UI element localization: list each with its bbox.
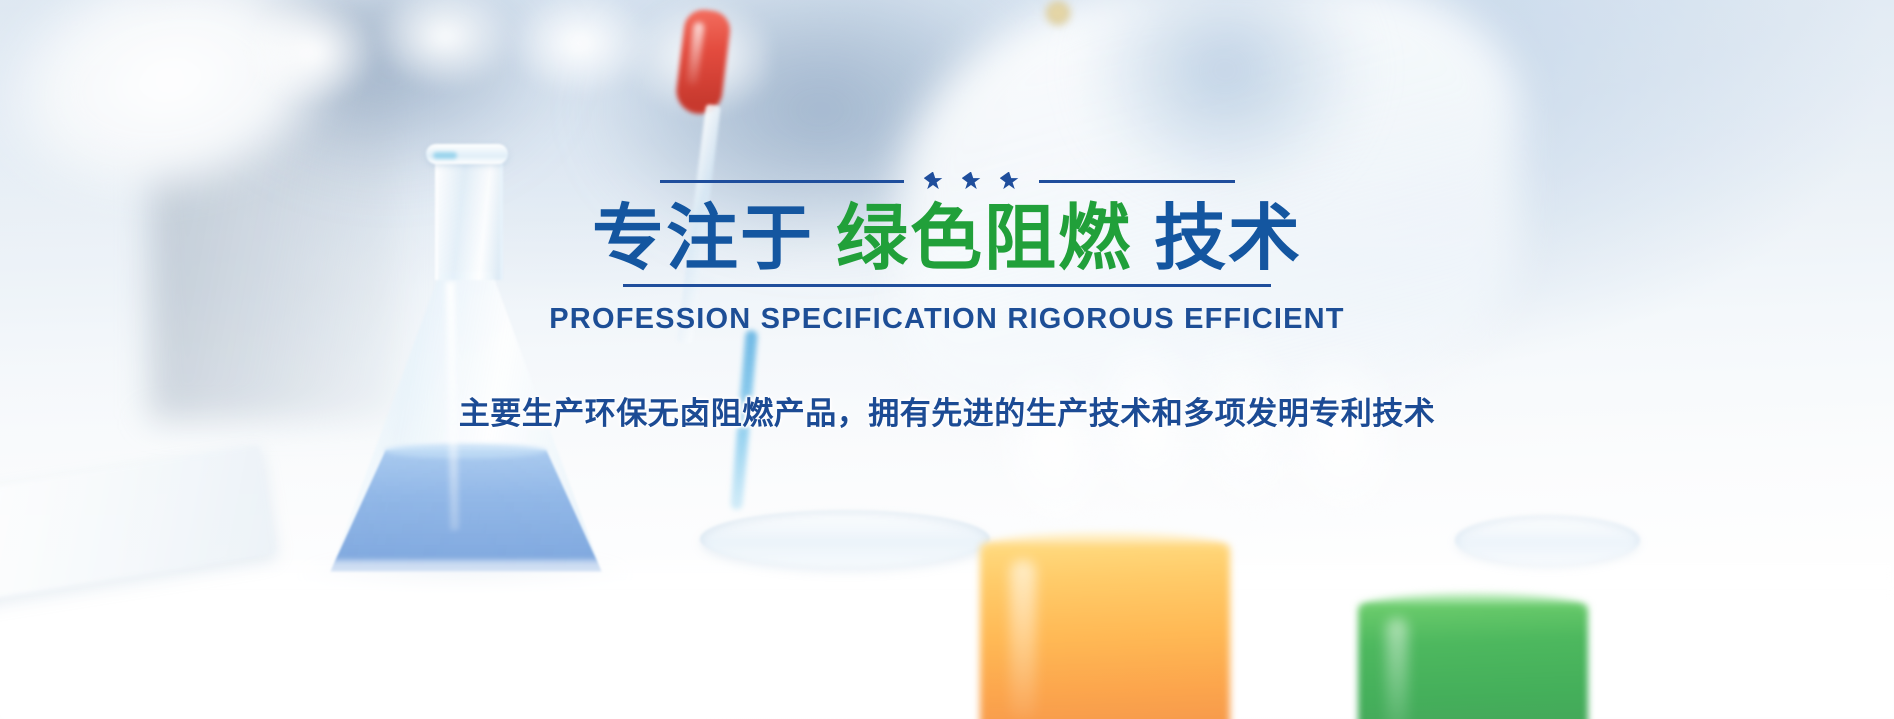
star-icon xyxy=(1000,172,1019,191)
headline-segment-1: 专注于 xyxy=(592,196,814,280)
headline: 专注于绿色阻燃技术 xyxy=(0,200,1894,280)
chinese-tagline: 主要生产环保无卤阻燃产品，拥有先进的生产技术和多项发明专利技术 xyxy=(0,388,1894,433)
divider-stars xyxy=(904,172,1039,191)
petri-dish-icon xyxy=(700,510,990,568)
english-subtitle: PROFESSION SPECIFICATION RIGOROUS EFFICI… xyxy=(0,303,1894,336)
banner-content: 专注于绿色阻燃技术 PROFESSION SPECIFICATION RIGOR… xyxy=(0,168,1894,433)
flask-liquid-surface xyxy=(384,444,547,458)
lab-bench-surface xyxy=(0,560,1894,719)
star-divider xyxy=(0,168,1894,194)
divider-line-right xyxy=(1039,180,1235,183)
headline-segment-3: 技术 xyxy=(1154,196,1302,280)
petri-dish-small-icon xyxy=(1455,515,1640,565)
shirt-button xyxy=(1045,0,1071,26)
star-icon xyxy=(924,172,943,191)
headline-segment-2: 绿色阻燃 xyxy=(836,196,1132,280)
star-icon xyxy=(962,172,981,191)
headline-underline xyxy=(623,284,1271,287)
flask-lip-tint xyxy=(433,152,457,159)
beaker-green-highlight xyxy=(1386,618,1408,719)
beaker-orange-highlight xyxy=(1010,560,1036,719)
divider-line-left xyxy=(660,180,904,183)
hero-banner: 专注于绿色阻燃技术 PROFESSION SPECIFICATION RIGOR… xyxy=(0,0,1894,719)
